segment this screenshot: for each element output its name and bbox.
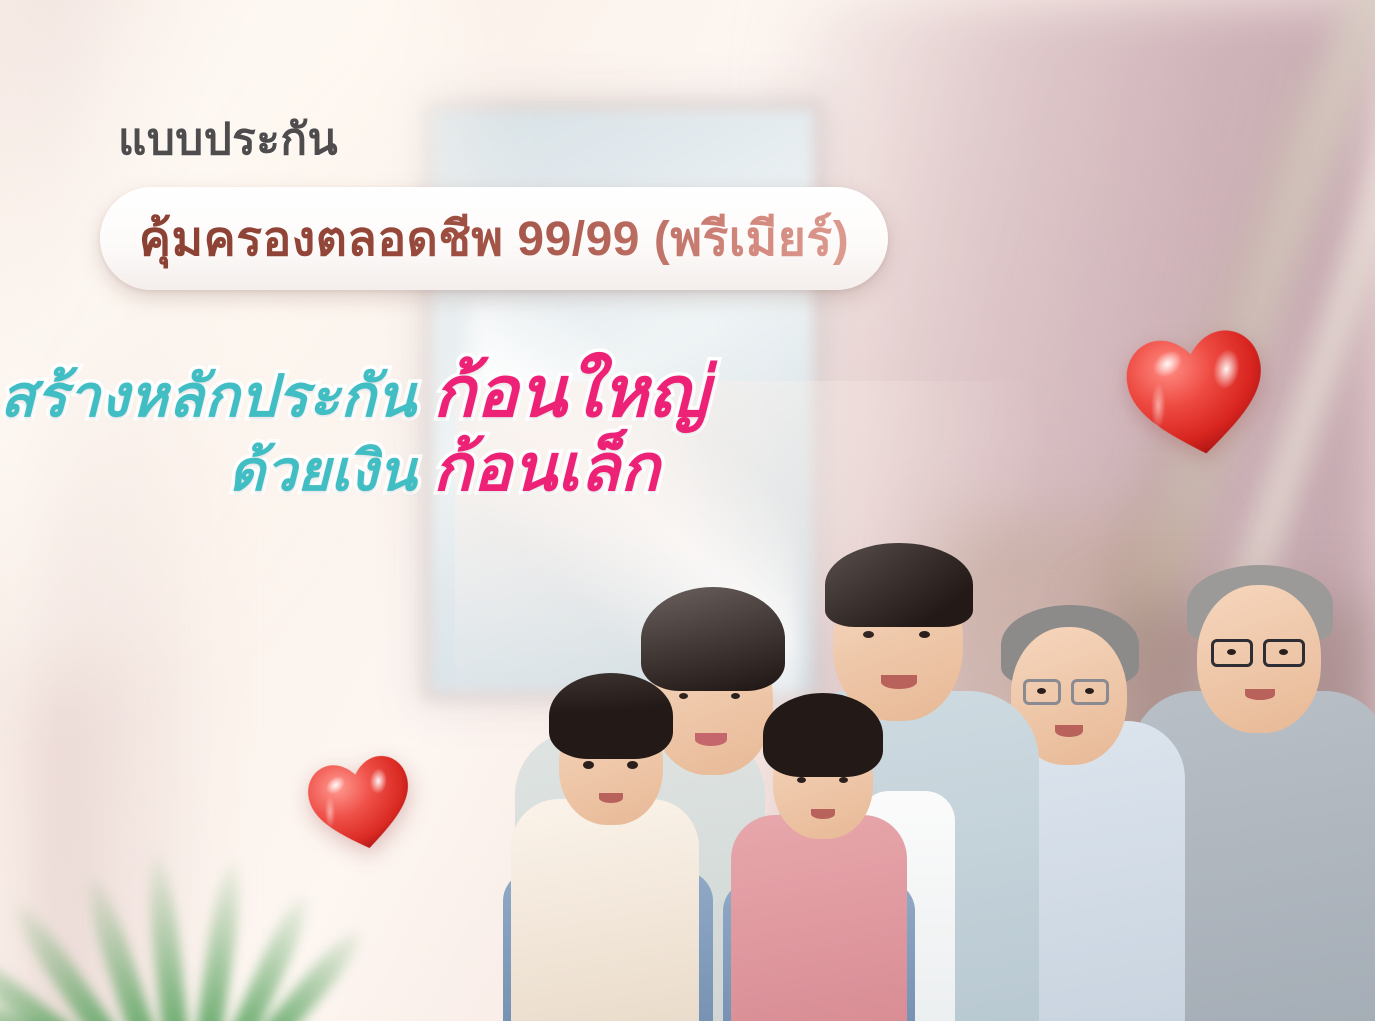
younger-daughter-blouse [511,799,699,1021]
tagline-line-1: สร้างหลักประกัน ก้อนใหญ่ [0,352,660,431]
product-name-text: คุ้มครองตลอดชีพ 99/99 (พรีเมียร์) [139,201,849,277]
tagline-line-2-teal: ด้วยเงิน [228,439,416,502]
tagline-line-2-pink: ก้อนเล็ก [433,431,660,504]
product-name-pill: คุ้มครองตลอดชีพ 99/99 (พรีเมียร์) [100,187,888,290]
tagline-line-2: ด้วยเงิน ก้อนเล็ก [0,431,660,504]
heart-icon-large [1113,320,1281,468]
tagline-line-1-teal: สร้างหลักประกัน [0,364,416,429]
insurance-promo-banner: แบบประกัน คุ้มครองตลอดชีพ 99/99 (พรีเมีย… [0,0,1375,1021]
grandfather-head [1197,585,1321,733]
younger-daughter-hair [549,673,673,759]
father-hair [825,543,973,627]
page-kicker: แบบประกัน [118,118,338,162]
tagline-line-1-pink: ก้อนใหญ่ [433,352,709,431]
older-daughter-hair [763,693,883,777]
tagline: สร้างหลักประกัน ก้อนใหญ่ ด้วยเงิน ก้อนเล… [0,352,800,505]
mother-hair [641,587,785,691]
potted-plant [38,779,338,1021]
older-daughter-shirt [731,815,907,1021]
